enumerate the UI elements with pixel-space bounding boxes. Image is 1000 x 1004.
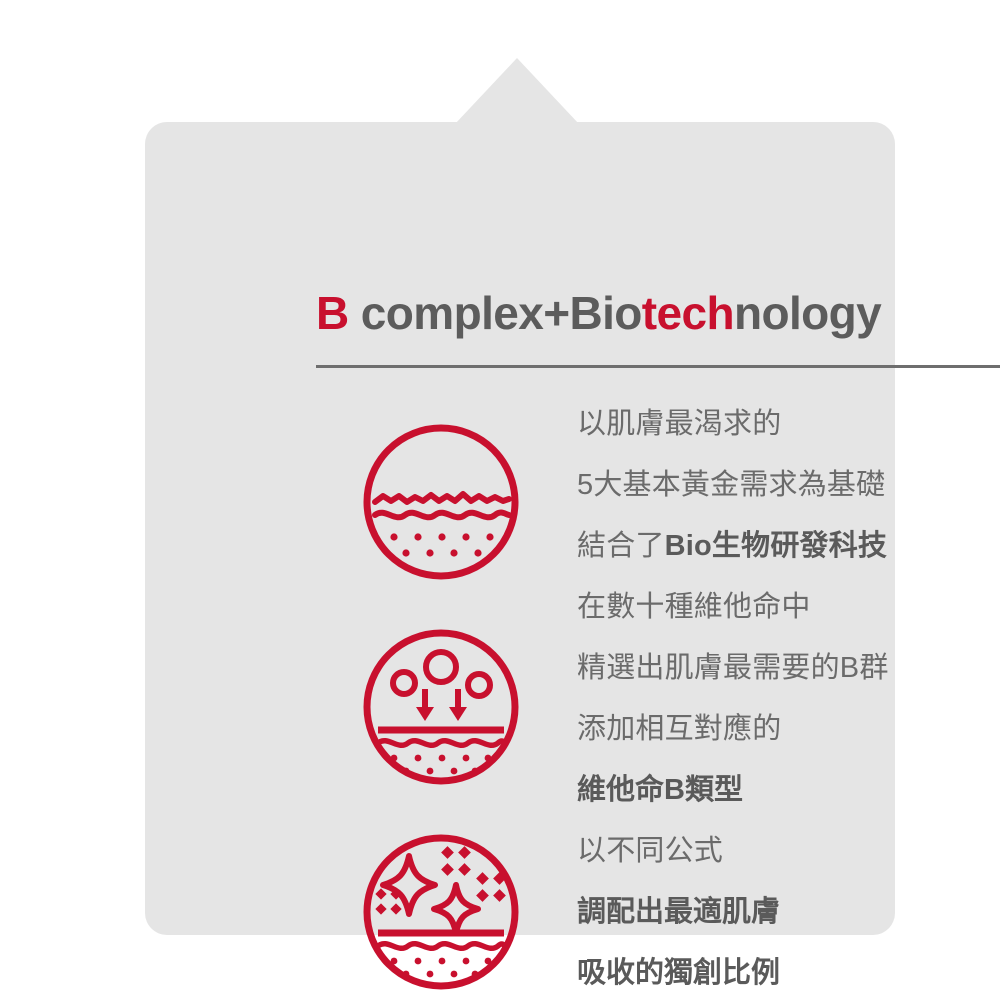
description-line: 以肌膚最渴求的 [577,394,1000,455]
promo-card-stage: B complex+Biotechnology [0,0,1000,1000]
description-line: 調配出最適肌膚 [577,882,1000,943]
description-line: 5大基本黃金需求為基礎 [577,455,1000,516]
description-line-normal-part: 結合了 [577,530,665,562]
description-line: 添加相互對應的 [577,699,1000,760]
page-title: B complex+Biotechnology [316,289,1000,339]
title-segment-nology: nology [734,287,881,339]
speech-bubble-tail [455,58,579,124]
radiance-icon [361,832,521,992]
title-segment-complex-bio: complex+Bio [349,287,642,339]
description-line: 吸收的獨創比例 [577,943,1000,1004]
description-line-bold-part: Bio生物研發科技 [665,530,888,562]
title-divider [316,365,1000,368]
description-line: 結合了Bio生物研發科技 [577,516,1000,577]
description-line: 維他命B類型 [577,760,1000,821]
description-text-block: 以肌膚最渴求的5大基本黃金需求為基礎結合了Bio生物研發科技在數十種維他命中精選… [577,394,1000,1004]
description-line: 以不同公式 [577,821,1000,882]
title-segment-b: B [316,287,349,339]
absorption-icon [361,627,521,787]
speech-bubble-panel: B complex+Biotechnology [145,122,895,935]
description-line: 精選出肌膚最需要的B群 [577,638,1000,699]
icon-column [361,422,521,992]
skin-texture-icon [361,422,521,582]
title-segment-tech: tech [642,287,734,339]
description-line: 在數十種維他命中 [577,577,1000,638]
